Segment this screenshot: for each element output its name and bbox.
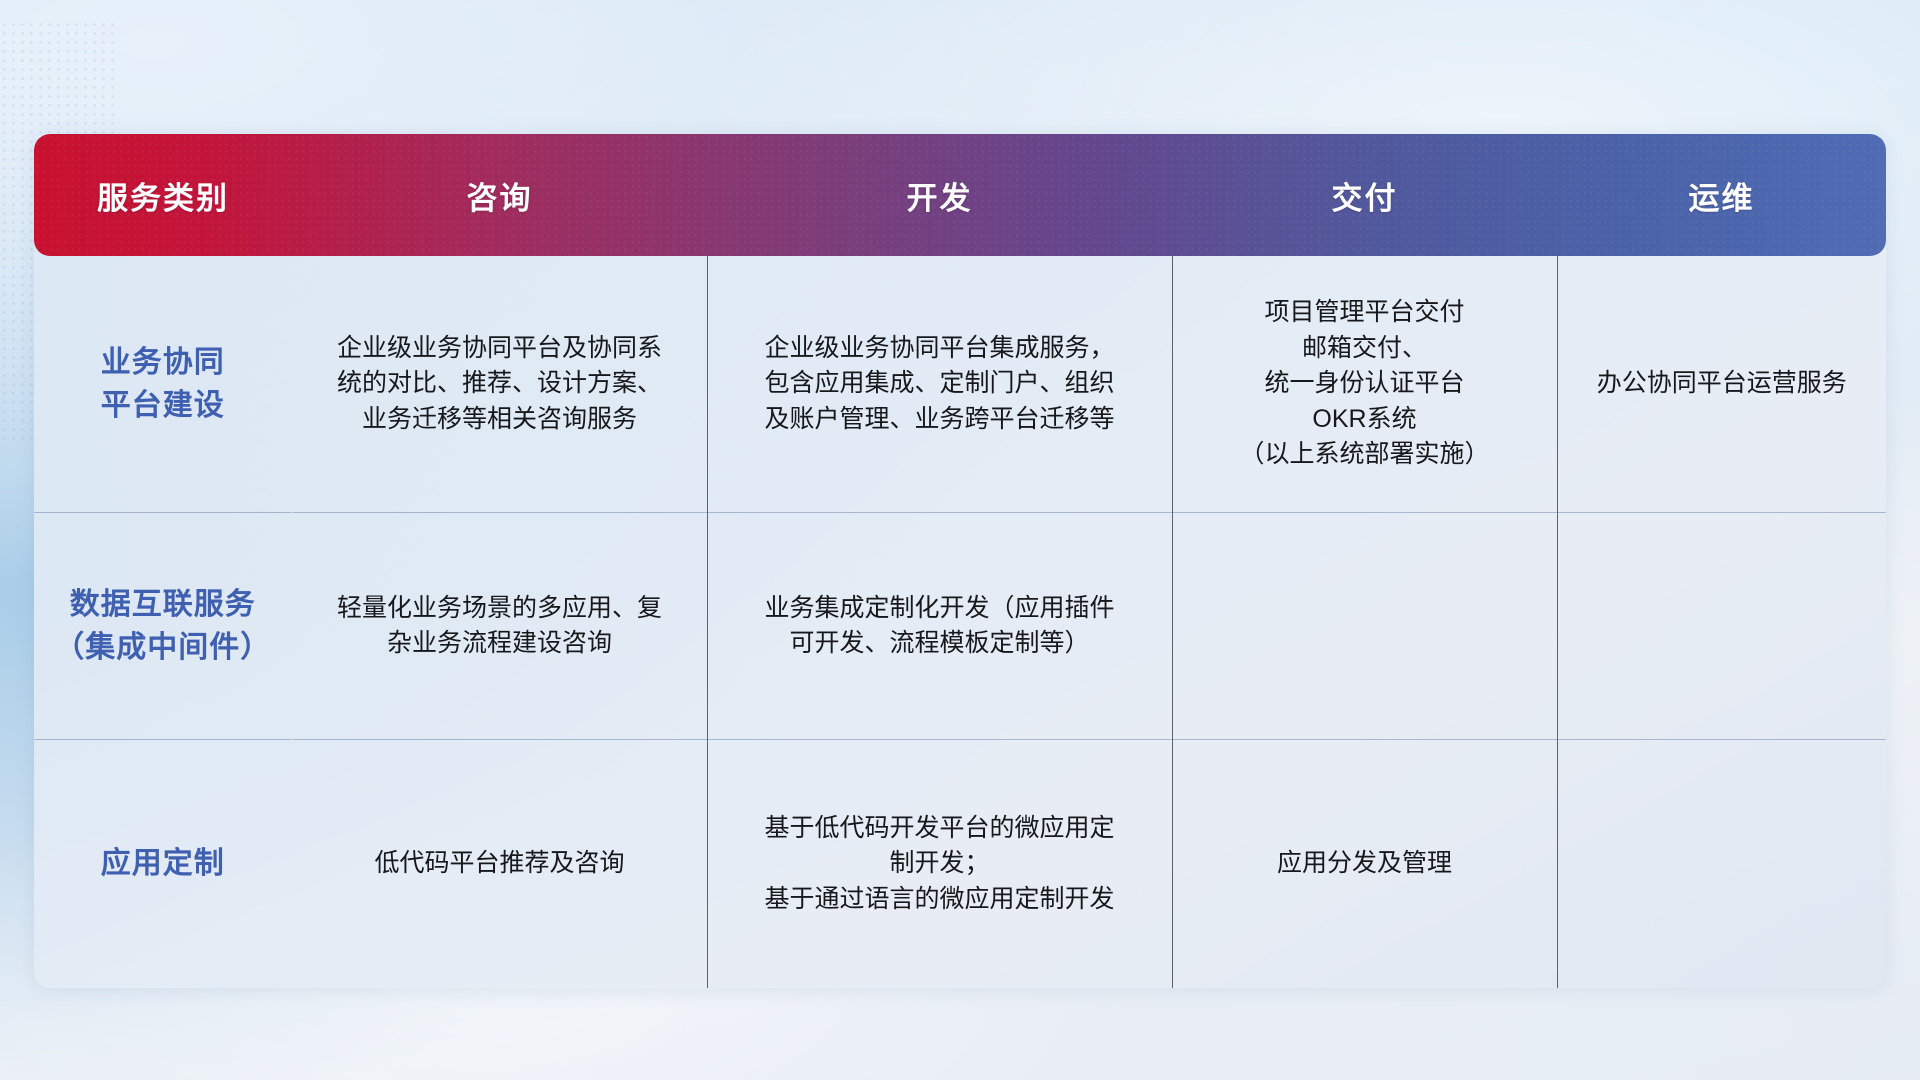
table-head: 服务类别 咨询 开发 交付 运维 <box>34 134 1886 256</box>
row-consulting-cell: 低代码平台推荐及咨询 <box>292 740 707 989</box>
service-category-table: 服务类别 咨询 开发 交付 运维 业务协同 平台建设 企业级业务协同平台及协同系… <box>34 134 1886 988</box>
row-category-label: 数据互联服务 （集成中间件） <box>44 583 282 670</box>
row-category-label: 业务协同 平台建设 <box>44 341 282 428</box>
row-delivery-cell <box>1172 513 1557 740</box>
row-operations-cell: 办公协同平台运营服务 <box>1557 256 1886 513</box>
cell-text: 应用分发及管理 <box>1195 846 1535 882</box>
row-consulting-cell: 企业级业务协同平台及协同系 统的对比、推荐、设计方案、 业务迁移等相关咨询服务 <box>292 256 707 513</box>
row-category-label: 应用定制 <box>44 842 282 886</box>
table-row: 应用定制 低代码平台推荐及咨询 基于低代码开发平台的微应用定 制开发； 基于通过… <box>34 740 1886 989</box>
cell-text: 企业级业务协同平台集成服务， 包含应用集成、定制门户、组织 及账户管理、业务跨平… <box>730 331 1150 438</box>
column-header-operations[interactable]: 运维 <box>1557 134 1886 256</box>
cell-text: 低代码平台推荐及咨询 <box>315 846 685 882</box>
table-row: 业务协同 平台建设 企业级业务协同平台及协同系 统的对比、推荐、设计方案、 业务… <box>34 256 1886 513</box>
row-development-cell: 企业级业务协同平台集成服务， 包含应用集成、定制门户、组织 及账户管理、业务跨平… <box>707 256 1172 513</box>
row-category-cell: 数据互联服务 （集成中间件） <box>34 513 292 740</box>
service-category-table-card: 服务类别 咨询 开发 交付 运维 业务协同 平台建设 企业级业务协同平台及协同系… <box>34 134 1886 988</box>
column-header-delivery[interactable]: 交付 <box>1172 134 1557 256</box>
row-operations-cell <box>1557 513 1886 740</box>
row-development-cell: 业务集成定制化开发（应用插件 可开发、流程模板定制等） <box>707 513 1172 740</box>
cell-text: 项目管理平台交付 邮箱交付、 统一身份认证平台 OKR系统 （以上系统部署实施） <box>1195 295 1535 473</box>
row-category-cell: 应用定制 <box>34 740 292 989</box>
row-delivery-cell: 项目管理平台交付 邮箱交付、 统一身份认证平台 OKR系统 （以上系统部署实施） <box>1172 256 1557 513</box>
table-row: 数据互联服务 （集成中间件） 轻量化业务场景的多应用、复 杂业务流程建设咨询 业… <box>34 513 1886 740</box>
cell-text: 办公协同平台运营服务 <box>1580 366 1865 402</box>
row-delivery-cell: 应用分发及管理 <box>1172 740 1557 989</box>
cell-text: 企业级业务协同平台及协同系 统的对比、推荐、设计方案、 业务迁移等相关咨询服务 <box>315 331 685 438</box>
column-header-category[interactable]: 服务类别 <box>34 134 292 256</box>
cell-text: 业务集成定制化开发（应用插件 可开发、流程模板定制等） <box>730 591 1150 662</box>
row-operations-cell <box>1557 740 1886 989</box>
table-header-row: 服务类别 咨询 开发 交付 运维 <box>34 134 1886 256</box>
column-header-consulting[interactable]: 咨询 <box>292 134 707 256</box>
column-header-development[interactable]: 开发 <box>707 134 1172 256</box>
row-consulting-cell: 轻量化业务场景的多应用、复 杂业务流程建设咨询 <box>292 513 707 740</box>
cell-text: 基于低代码开发平台的微应用定 制开发； 基于通过语言的微应用定制开发 <box>730 811 1150 918</box>
table-body: 业务协同 平台建设 企业级业务协同平台及协同系 统的对比、推荐、设计方案、 业务… <box>34 256 1886 988</box>
row-category-cell: 业务协同 平台建设 <box>34 256 292 513</box>
row-development-cell: 基于低代码开发平台的微应用定 制开发； 基于通过语言的微应用定制开发 <box>707 740 1172 989</box>
cell-text: 轻量化业务场景的多应用、复 杂业务流程建设咨询 <box>315 591 685 662</box>
